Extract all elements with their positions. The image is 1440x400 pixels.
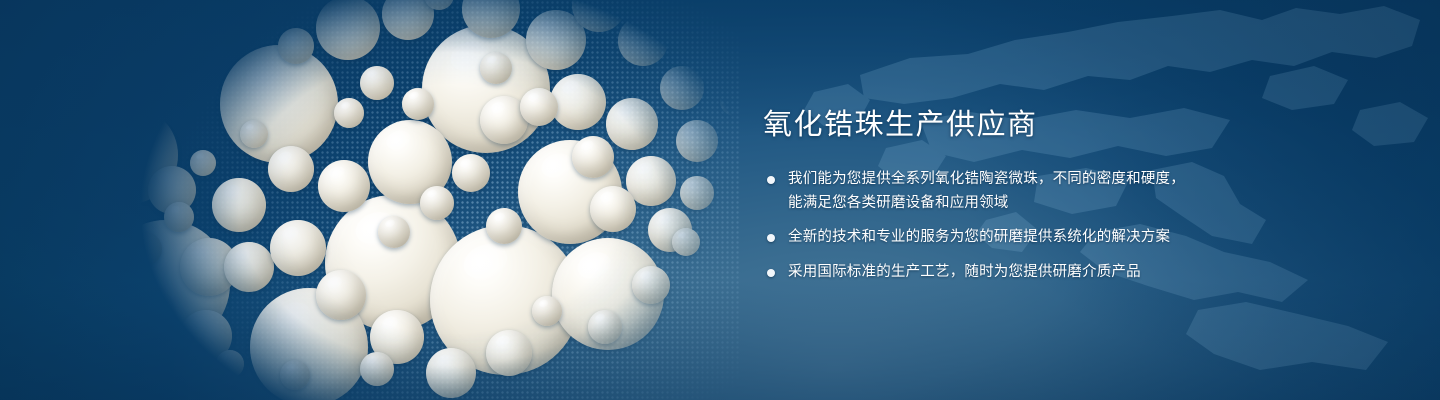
bullet-dot-icon xyxy=(767,234,775,242)
list-item-line: 我们能为您提供全系列氧化锆陶瓷微珠，不同的密度和硬度， xyxy=(788,168,1233,191)
list-item-line: 全新的技术和专业的服务为您的研磨提供系统化的解决方案 xyxy=(788,226,1233,249)
banner-copy: 氧化锆珠生产供应商 我们能为您提供全系列氧化锆陶瓷微珠，不同的密度和硬度， 能满… xyxy=(763,108,1233,284)
page-title: 氧化锆珠生产供应商 xyxy=(763,108,1233,142)
feature-list: 我们能为您提供全系列氧化锆陶瓷微珠，不同的密度和硬度， 能满足您各类研磨设备和应… xyxy=(763,168,1233,284)
list-item-line: 能满足您各类研磨设备和应用领域 xyxy=(788,192,1233,215)
bullet-dot-icon xyxy=(767,269,775,277)
list-item: 采用国际标准的生产工艺，随时为您提供研磨介质产品 xyxy=(763,261,1233,284)
hero-banner: 氧化锆珠生产供应商 我们能为您提供全系列氧化锆陶瓷微珠，不同的密度和硬度， 能满… xyxy=(0,0,1440,400)
list-item-line: 采用国际标准的生产工艺，随时为您提供研磨介质产品 xyxy=(788,261,1233,284)
bullet-dot-icon xyxy=(767,176,775,184)
list-item: 我们能为您提供全系列氧化锆陶瓷微珠，不同的密度和硬度， 能满足您各类研磨设备和应… xyxy=(763,168,1233,215)
list-item: 全新的技术和专业的服务为您的研磨提供系统化的解决方案 xyxy=(763,226,1233,249)
